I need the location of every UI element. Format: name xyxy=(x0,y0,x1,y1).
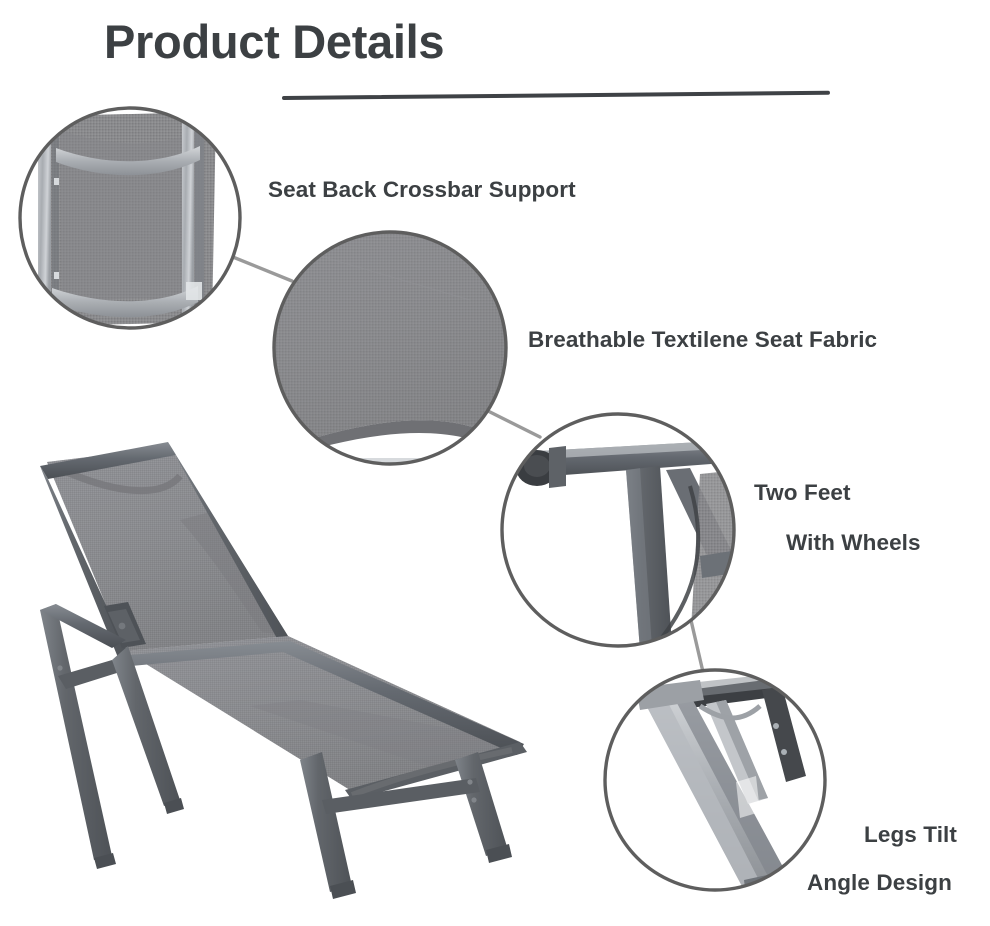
callout-label-seat-back-crossbar: Seat Back Crossbar Support xyxy=(268,178,576,202)
page-title: Product Details xyxy=(104,14,444,69)
callout-circle-two-feet-wheels xyxy=(500,412,742,650)
recline-pivot xyxy=(119,623,126,630)
left-frame-rail xyxy=(38,106,51,330)
chaise-lounge-product xyxy=(40,442,527,899)
callout-circle-breathable-textilene xyxy=(272,230,508,478)
callout-label-two-feet-line1: Two Feet xyxy=(754,481,851,505)
connector-1-2 xyxy=(228,255,292,281)
callout-circle-seat-back-crossbar xyxy=(18,106,242,330)
callout-label-breathable-textilene: Breathable Textilene Seat Fabric xyxy=(528,328,877,352)
infographic-illustration xyxy=(0,0,990,926)
callout-label-legs-tilt-line2: Angle Design xyxy=(807,871,952,895)
connector-3-4 xyxy=(690,616,703,672)
callout-circle-legs-tilt xyxy=(603,668,827,896)
callout-label-legs-tilt-line1: Legs Tilt xyxy=(864,823,957,847)
leg-foot-front-right xyxy=(455,752,508,856)
product-details-infographic: Product Details Seat Back Crossbar Suppo… xyxy=(0,0,990,926)
wheel-bracket xyxy=(549,446,566,488)
callout-label-two-feet-line2: With Wheels xyxy=(786,531,921,555)
